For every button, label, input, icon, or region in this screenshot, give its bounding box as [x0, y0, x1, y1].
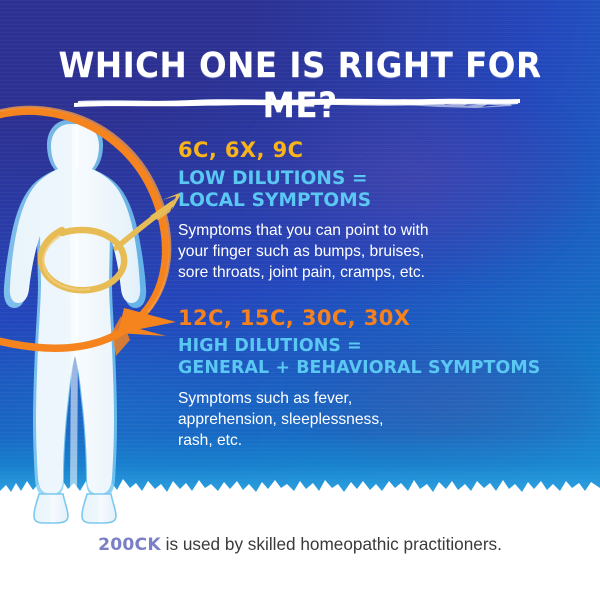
high-symptoms-line2: apprehension, sleeplessness,	[178, 409, 590, 430]
low-symptoms-line1: Symptoms that you can point to with	[178, 220, 590, 241]
high-symptoms-line1: Symptoms such as fever,	[178, 388, 590, 409]
high-dilution-line1: HIGH DILUTIONS =	[178, 336, 590, 358]
footer-note: 200CK is used by skilled homeopathic pra…	[0, 533, 600, 556]
high-dilution-heading: HIGH DILUTIONS = GENERAL + BEHAVIORAL SY…	[178, 336, 590, 379]
high-symptoms-text: Symptoms such as fever, apprehension, sl…	[178, 388, 590, 451]
potency-high-label: 12C, 15C, 30C, 30X	[178, 305, 590, 331]
body-figure-icon	[0, 112, 180, 530]
potency-low-label: 6C, 6X, 9C	[178, 137, 590, 163]
footer-note-text: is used by skilled homeopathic practitio…	[161, 534, 502, 554]
page-title: WHICH ONE IS RIGHT FOR ME?	[21, 46, 579, 126]
title-underline-brushstroke-icon	[72, 95, 522, 109]
low-symptoms-text: Symptoms that you can point to with your…	[178, 220, 590, 283]
low-symptoms-line2: your finger such as bumps, bruises,	[178, 241, 590, 262]
content-column: 6C, 6X, 9C LOW DILUTIONS = LOCAL SYMPTOM…	[178, 137, 590, 451]
high-dilution-block: 12C, 15C, 30C, 30X HIGH DILUTIONS = GENE…	[178, 305, 590, 451]
footer-potency-label: 200CK	[98, 535, 161, 555]
low-dilution-block: 6C, 6X, 9C LOW DILUTIONS = LOCAL SYMPTOM…	[178, 137, 590, 283]
low-dilution-heading: LOW DILUTIONS = LOCAL SYMPTOMS	[178, 168, 590, 211]
low-symptoms-line3: sore throats, joint pain, cramps, etc.	[178, 262, 590, 283]
infographic-canvas: WHICH ONE IS RIGHT FOR ME? 6C, 6X, 9C LO…	[0, 0, 600, 600]
high-symptoms-line3: rash, etc.	[178, 430, 590, 451]
high-dilution-line2: GENERAL + BEHAVIORAL SYMPTOMS	[178, 358, 590, 380]
low-dilution-line1: LOW DILUTIONS =	[178, 168, 590, 190]
human-body-silhouette	[0, 112, 180, 530]
low-dilution-line2: LOCAL SYMPTOMS	[178, 190, 590, 212]
